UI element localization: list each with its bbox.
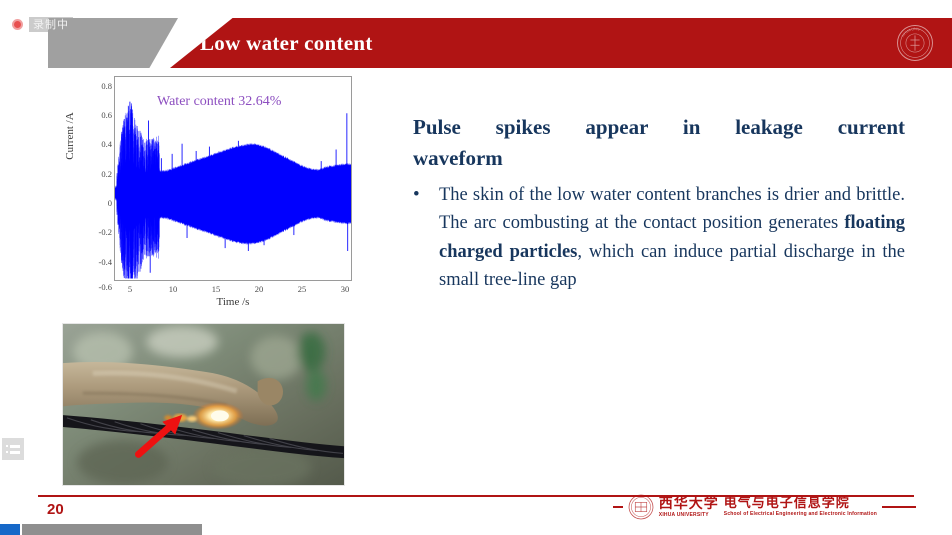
slide-header: Low water content XIHUA UNIV [0, 18, 952, 68]
record-dot-icon [12, 19, 23, 30]
page-title: Low water content [170, 18, 952, 68]
x-tick-1: 10 [169, 284, 178, 294]
recording-indicator: 录制中 [12, 14, 73, 34]
university-seal-icon: XIHUA UNIV [896, 24, 934, 62]
taskbar-accent [0, 524, 20, 535]
chart-plot-area: Water content 32.64% [114, 76, 352, 281]
y-tick-2: 0.4 [86, 134, 112, 152]
bullet-item: • The skin of the low water content bran… [413, 181, 905, 293]
footer-dash-left [613, 506, 623, 508]
y-tick-7: -0.6 [86, 277, 112, 295]
svg-text:XIHUA UNIV: XIHUA UNIV [901, 27, 922, 38]
y-tick-1: 0.6 [86, 105, 112, 123]
heading-line-2: waveform [413, 143, 905, 174]
x-tick-2: 15 [212, 284, 221, 294]
content-text-column: Pulse spikes appear in leakage current w… [413, 112, 905, 294]
footer-dash-right [882, 506, 916, 508]
slide-number: 20 [47, 501, 64, 518]
footer-school: 电气与电子信息学院 School of Electrical Engineeri… [724, 497, 877, 517]
footer-university: 西华大学 XIHUA UNIVERSITY [659, 497, 719, 518]
branch-cable-arc-photo [62, 323, 345, 486]
y-tick-5: -0.2 [86, 222, 112, 240]
os-taskbar [0, 521, 952, 535]
chart-y-axis-label: Current /A [64, 86, 76, 186]
y-tick-0: 0.8 [86, 76, 112, 94]
y-tick-3: 0.2 [86, 164, 112, 182]
content-heading: Pulse spikes appear in leakage current w… [413, 112, 905, 173]
list-menu-icon[interactable] [2, 438, 24, 460]
university-seal-icon [628, 494, 654, 520]
header-red-banner: Low water content XIHUA UNIV [170, 18, 952, 68]
x-tick-3: 20 [255, 284, 264, 294]
chart-x-axis-label: Time /s [114, 296, 352, 308]
y-tick-4: 0 [86, 193, 112, 211]
bullet-marker-icon: • [413, 181, 439, 293]
footer-university-cn: 西华大学 [659, 497, 719, 511]
recording-label: 录制中 [29, 17, 73, 32]
footer-school-en: School of Electrical Engineering and Ele… [724, 512, 877, 517]
footer-school-cn: 电气与电子信息学院 [724, 497, 877, 510]
heading-line-1: Pulse spikes appear in leakage current [413, 112, 905, 143]
bullet-paragraph: The skin of the low water content branch… [439, 181, 905, 293]
leakage-current-chart: Current /A 0.8 0.6 0.4 0.2 0 -0.2 -0.4 -… [42, 68, 372, 313]
bullet-text-part1: The skin of the low water content branch… [439, 185, 905, 233]
photo-graphic [63, 324, 344, 485]
taskbar-strip [22, 524, 202, 535]
x-tick-0: 5 [128, 284, 132, 294]
slide-canvas: Low water content XIHUA UNIV Current /A … [0, 0, 952, 521]
footer-logo: 西华大学 XIHUA UNIVERSITY 电气与电子信息学院 School o… [613, 492, 916, 522]
chart-annotation: Water content 32.64% [157, 94, 281, 110]
y-tick-6: -0.4 [86, 252, 112, 270]
footer-university-en: XIHUA UNIVERSITY [659, 513, 719, 518]
x-tick-4: 25 [298, 284, 307, 294]
x-tick-5: 30 [341, 284, 350, 294]
